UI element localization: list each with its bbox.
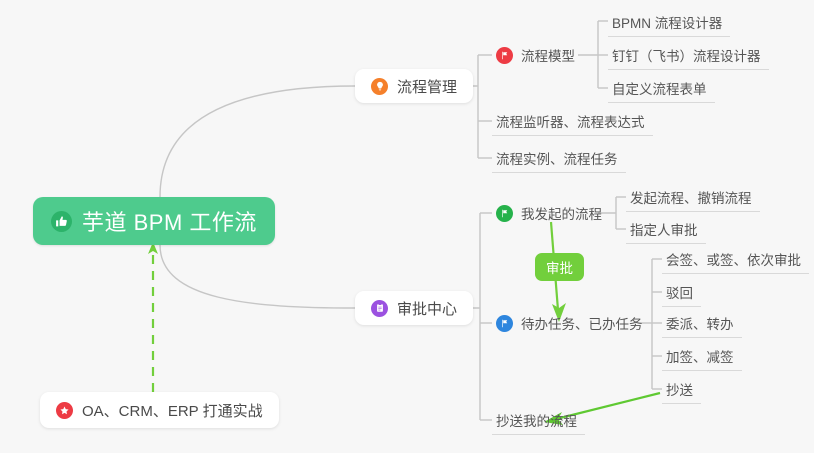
node-process-model[interactable]: 流程模型 [492, 41, 583, 69]
star-icon [56, 402, 73, 419]
node-label: 流程监听器、流程表达式 [496, 111, 645, 131]
link-root-to-approval-center [160, 245, 355, 308]
lightbulb-icon [371, 78, 388, 95]
node-listener-expression[interactable]: 流程监听器、流程表达式 [492, 107, 653, 136]
node-label: 我发起的流程 [521, 203, 602, 223]
node-label: 会签、或签、依次审批 [666, 249, 801, 269]
node-countersign[interactable]: 会签、或签、依次审批 [662, 245, 809, 274]
node-start-cancel-process[interactable]: 发起流程、撤销流程 [626, 183, 760, 212]
node-label: 自定义流程表单 [612, 78, 707, 98]
node-label: 委派、转办 [666, 313, 734, 333]
node-label: 流程实例、流程任务 [496, 148, 618, 168]
node-assignee-approval[interactable]: 指定人审批 [626, 215, 706, 244]
branch-label: 审批中心 [397, 298, 457, 319]
approval-tag[interactable]: 审批 [535, 253, 584, 281]
branch-approval-center[interactable]: 审批中心 [355, 291, 473, 325]
mindmap-canvas: 芋道 BPM 工作流 流程管理 流程模型 BPMN 流程设计器 钉钉（飞书）流程… [0, 0, 814, 453]
node-instance-task[interactable]: 流程实例、流程任务 [492, 144, 626, 173]
node-label: 抄送 [666, 379, 693, 399]
flag-icon [496, 205, 513, 222]
root-label: 芋道 BPM 工作流 [82, 205, 257, 237]
node-cc-to-me[interactable]: 抄送我的流程 [492, 406, 585, 435]
footnote-label: OA、CRM、ERP 打通实战 [82, 400, 263, 421]
node-bpmn-designer[interactable]: BPMN 流程设计器 [608, 8, 730, 37]
node-label: 加签、减签 [666, 346, 734, 366]
node-label: BPMN 流程设计器 [612, 12, 722, 32]
node-label: 钉钉（飞书）流程设计器 [612, 45, 761, 65]
approval-tag-label: 审批 [546, 257, 573, 277]
flag-icon [496, 315, 513, 332]
root-node[interactable]: 芋道 BPM 工作流 [33, 197, 275, 245]
node-custom-form[interactable]: 自定义流程表单 [608, 74, 715, 103]
link-root-to-process-management [160, 86, 355, 197]
node-reject[interactable]: 驳回 [662, 278, 701, 307]
node-dingtalk-designer[interactable]: 钉钉（飞书）流程设计器 [608, 41, 769, 70]
node-cc[interactable]: 抄送 [662, 375, 701, 404]
thumbs-up-icon [51, 211, 72, 232]
clipboard-icon [371, 300, 388, 317]
node-my-initiated[interactable]: 我发起的流程 [492, 199, 610, 227]
node-todo-done-tasks[interactable]: 待办任务、已办任务 [492, 309, 651, 337]
node-label: 待办任务、已办任务 [521, 313, 643, 333]
branch-label: 流程管理 [397, 76, 457, 97]
node-label: 抄送我的流程 [496, 410, 577, 430]
arrow-footnote-to-root [148, 242, 158, 392]
flag-icon [496, 47, 513, 64]
node-delegate-transfer[interactable]: 委派、转办 [662, 309, 742, 338]
node-label: 驳回 [666, 282, 693, 302]
footnote-integration-note[interactable]: OA、CRM、ERP 打通实战 [40, 392, 279, 428]
node-label: 指定人审批 [630, 219, 698, 239]
node-label: 发起流程、撤销流程 [630, 187, 752, 207]
branch-process-management[interactable]: 流程管理 [355, 69, 473, 103]
node-add-remove-sign[interactable]: 加签、减签 [662, 342, 742, 371]
node-label: 流程模型 [521, 45, 575, 65]
